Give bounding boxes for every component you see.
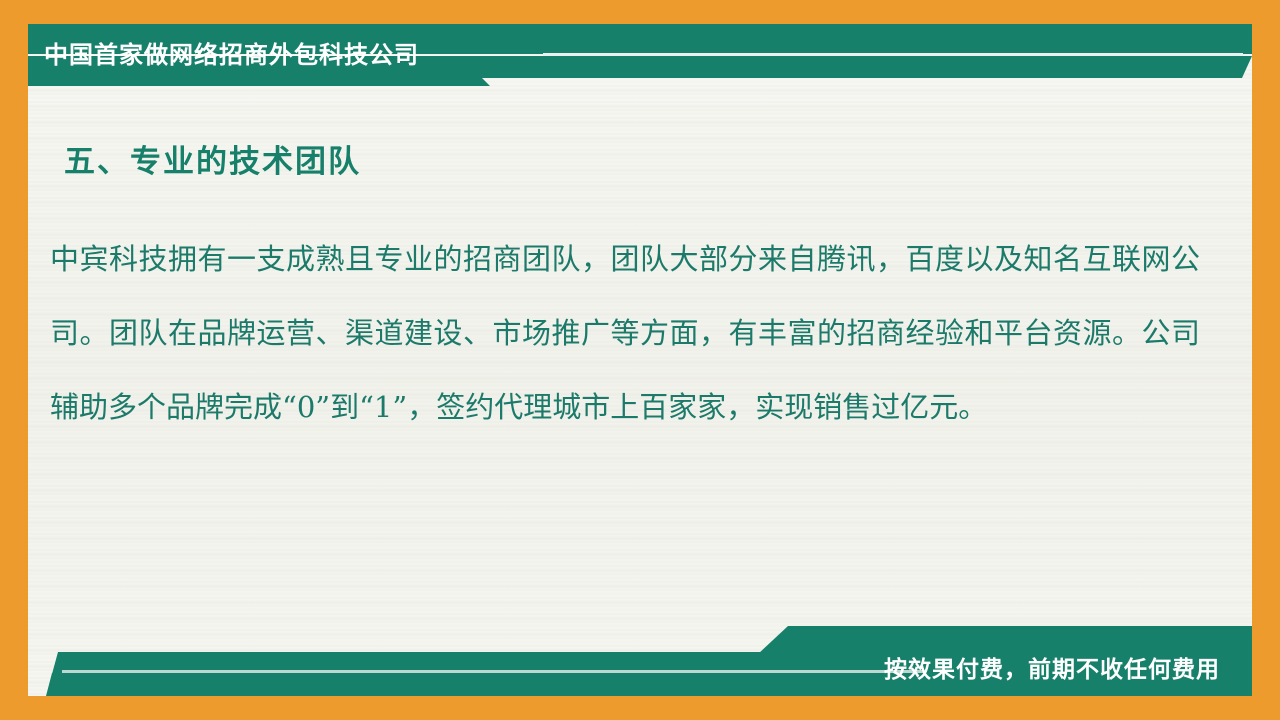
- header-divider-line: [543, 53, 1243, 56]
- section-heading: 五、专业的技术团队: [64, 136, 361, 181]
- footer-tagline: 按效果付费，前期不收任何费用: [884, 650, 1220, 684]
- header-title: 中国首家做网络招商外包科技公司: [44, 26, 419, 78]
- presentation-slide: 中国首家做网络招商外包科技公司 五、专业的技术团队 中宾科技拥有一支成熟且专业的…: [0, 0, 1280, 720]
- header-banner: 中国首家做网络招商外包科技公司: [28, 24, 1252, 78]
- body-paragraph: 中宾科技拥有一支成熟且专业的招商团队，团队大部分来自腾讯，百度以及知名互联网公司…: [50, 222, 1200, 444]
- footer-divider-line: [62, 670, 924, 673]
- footer-banner: 按效果付费，前期不收任何费用: [28, 626, 1252, 696]
